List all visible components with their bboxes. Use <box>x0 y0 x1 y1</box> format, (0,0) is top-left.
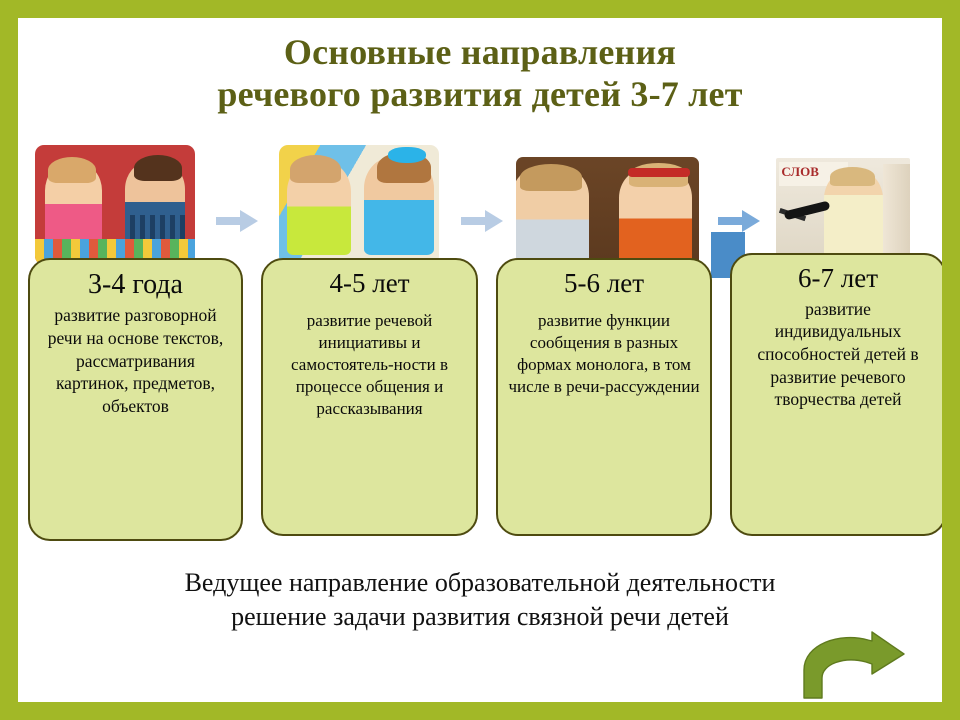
photo4-banner-text: СЛОВ <box>781 164 819 180</box>
age-card-5-6[interactable]: 5-6 лет развитие функции сообщения в раз… <box>496 258 712 536</box>
card4-age-label: 6-7 лет <box>740 263 936 295</box>
arrow2-head <box>485 210 503 232</box>
photo4-hair <box>830 167 876 186</box>
card3-description: развитие функции сообщения в разных форм… <box>506 310 702 398</box>
photo3-hair-left <box>520 164 582 191</box>
card2-age-label: 4-5 лет <box>271 268 468 300</box>
caption-line-2: решение задачи развития связной речи дет… <box>40 600 920 634</box>
age-card-3-4[interactable]: 3-4 года развитие разговорной речи на ос… <box>28 258 243 541</box>
age-card-4-5[interactable]: 4-5 лет развитие речевой инициативы и са… <box>261 258 478 536</box>
arrow3-shaft <box>718 217 744 226</box>
photo2-hair-bow <box>388 147 426 163</box>
curved-arrow-icon <box>792 630 922 700</box>
photo1-hair-left <box>48 157 96 183</box>
title-line-2: речевого развития детей 3-7 лет <box>18 74 942 116</box>
photo-toddlers-with-blocks <box>35 145 195 265</box>
arrow2-shaft <box>461 217 487 226</box>
title-line-1: Основные направления <box>18 32 942 74</box>
photo4-microphone <box>784 200 830 219</box>
age-card-6-7[interactable]: 6-7 лет развитие индивидуальных способно… <box>730 253 942 536</box>
slide-canvas: Основные направления речевого развития д… <box>18 18 942 702</box>
card1-description: развитие разговорной речи на основе текс… <box>38 304 233 418</box>
card3-age-label: 5-6 лет <box>506 268 702 300</box>
right-arrow-icon-3 <box>718 210 760 232</box>
slide-frame: Основные направления речевого развития д… <box>0 0 960 720</box>
caption-line-1: Ведущее направление образовательной деят… <box>40 566 920 600</box>
photo-girl-at-microphone: СЛОВ <box>776 158 910 266</box>
page-title: Основные направления речевого развития д… <box>18 32 942 116</box>
arrow1-shaft <box>216 217 242 226</box>
card2-description: развитие речевой инициативы и самостояте… <box>271 310 468 420</box>
arrow3-head <box>742 210 760 232</box>
photo3-headband <box>628 168 690 177</box>
card1-age-label: 3-4 года <box>38 268 233 301</box>
bottom-caption: Ведущее направление образовательной деят… <box>40 566 920 635</box>
right-arrow-icon-1 <box>216 210 258 232</box>
right-arrow-icon-2 <box>461 210 503 232</box>
photo2-hair-left <box>290 155 341 184</box>
photo-girls-whispering <box>279 145 439 265</box>
photo4-curtain <box>883 164 910 257</box>
card4-description: развитие индивидуальных способностей дет… <box>740 298 936 411</box>
arrow1-head <box>240 210 258 232</box>
photo1-hair-right <box>134 155 182 181</box>
